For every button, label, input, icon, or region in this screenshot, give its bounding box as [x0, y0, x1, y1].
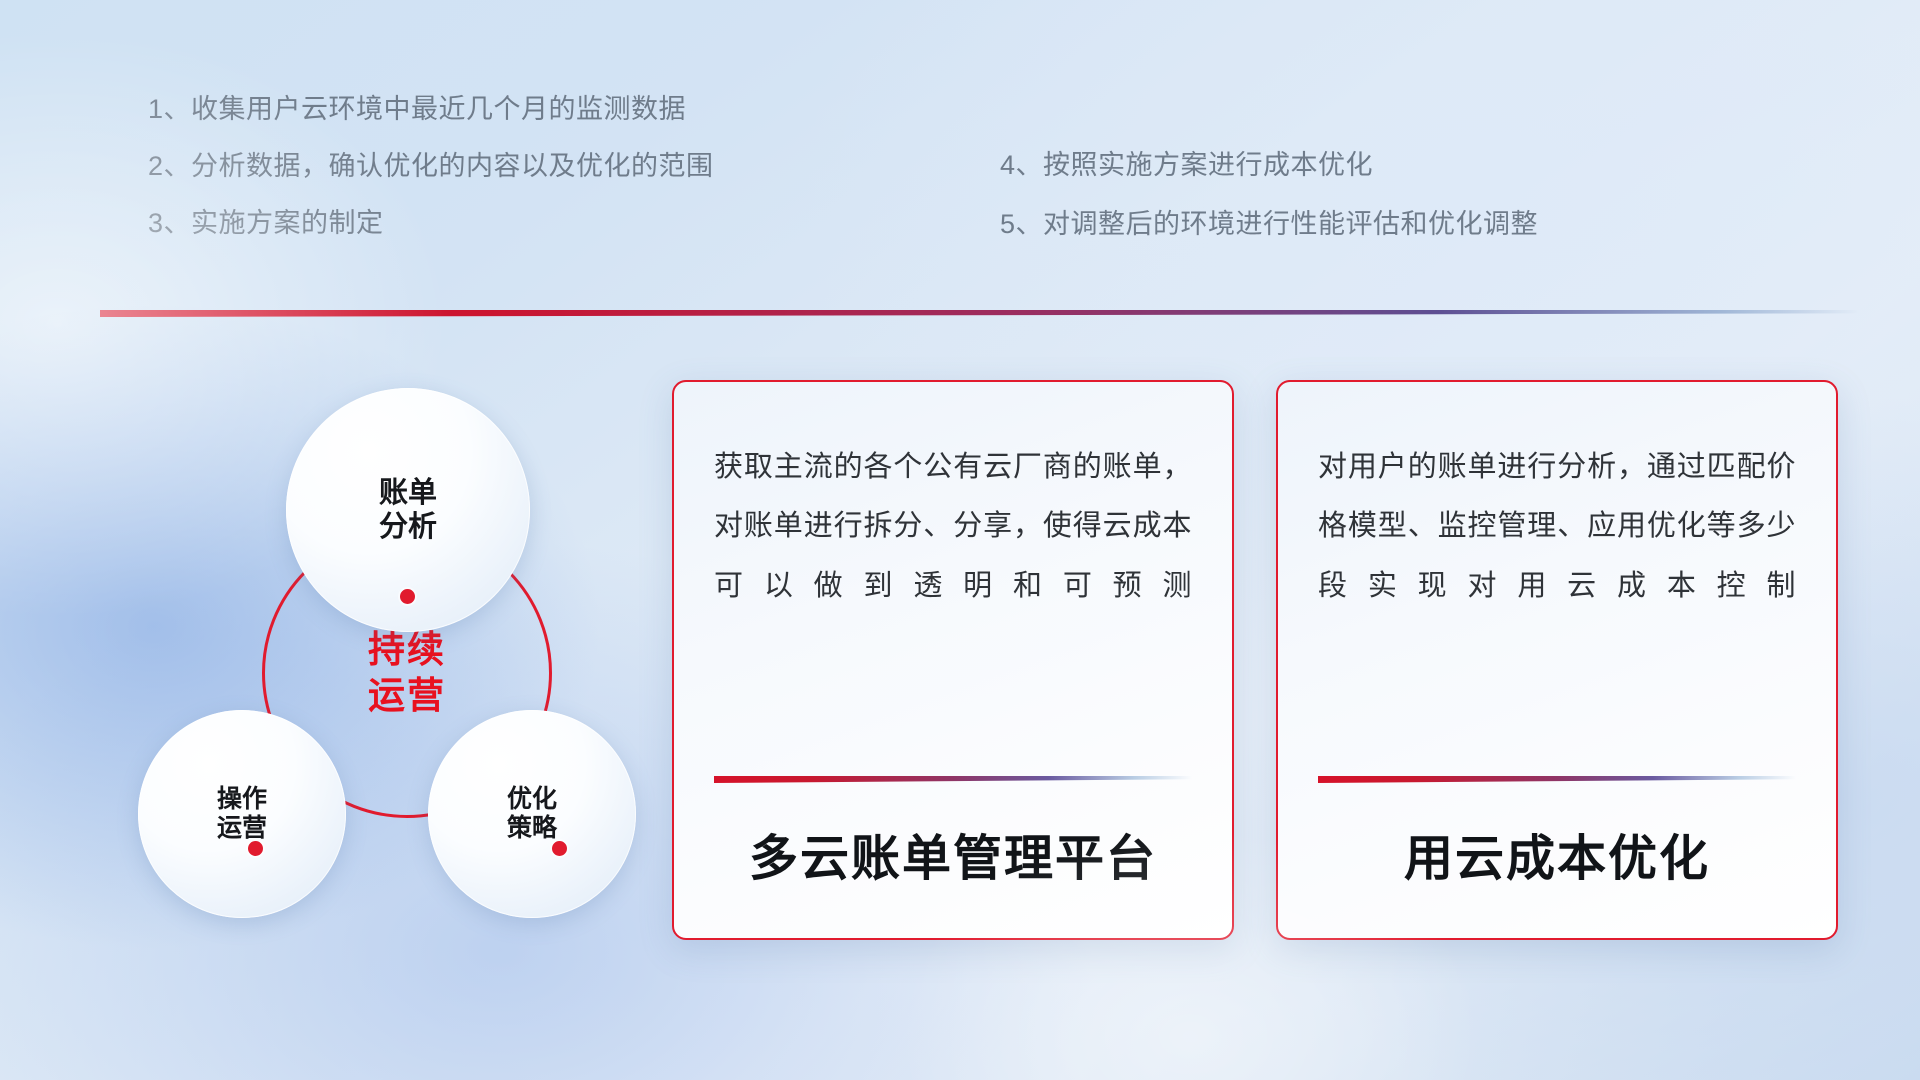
continuous-operation-diagram: 持续 运营 账单 分析 操作 运营 优化 策略 — [96, 348, 636, 948]
card-multicloud-billing[interactable]: 获取主流的各个公有云厂商的账单，对账单进行拆分、分享，使得云成本可以做到透明和可… — [672, 380, 1234, 940]
center-label-line2: 运营 — [368, 673, 446, 719]
list-item: 5、对调整后的环境进行性能评估和优化调整 — [1000, 211, 1538, 238]
bubble-label-line2: 分析 — [379, 510, 437, 544]
bubble-label-line1: 优化 — [507, 785, 557, 815]
bubble-label-line2: 策略 — [507, 814, 557, 844]
connector-dot-top — [400, 589, 415, 604]
connector-dot-bottom-left — [248, 841, 263, 856]
card-accent-rule — [1318, 776, 1796, 783]
card-accent-rule — [714, 776, 1192, 783]
bubble-label-line1: 账单 — [379, 476, 437, 510]
list-item: 4、按照实施方案进行成本优化 — [1000, 152, 1538, 179]
list-item: 2、分析数据，确认优化的内容以及优化的范围 — [148, 153, 714, 180]
bubble-optimization-strategy[interactable]: 优化 策略 — [428, 710, 636, 918]
steps-list-left: 1、收集用户云环境中最近几个月的监测数据 2、分析数据，确认优化的内容以及优化的… — [148, 96, 714, 267]
card-body-text: 获取主流的各个公有云厂商的账单，对账单进行拆分、分享，使得云成本可以做到透明和可… — [714, 438, 1192, 616]
connector-dot-bottom-right — [552, 841, 567, 856]
list-item: 1、收集用户云环境中最近几个月的监测数据 — [148, 96, 714, 123]
accent-divider — [100, 310, 1860, 317]
card-cloud-cost-optimization[interactable]: 对用户的账单进行分析，通过匹配价格模型、监控管理、应用优化等多少段实现对用云成本… — [1276, 380, 1838, 940]
bubble-label-line1: 操作 — [217, 785, 267, 815]
steps-list-right: 4、按照实施方案进行成本优化 5、对调整后的环境进行性能评估和优化调整 — [1000, 152, 1538, 270]
slide-canvas: 1、收集用户云环境中最近几个月的监测数据 2、分析数据，确认优化的内容以及优化的… — [0, 0, 1920, 1080]
bubble-operation[interactable]: 操作 运营 — [138, 710, 346, 918]
card-title: 用云成本优化 — [1318, 819, 1796, 890]
card-title: 多云账单管理平台 — [714, 819, 1192, 890]
list-item: 3、实施方案的制定 — [148, 210, 714, 237]
center-label-line1: 持续 — [368, 627, 446, 673]
card-body-text: 对用户的账单进行分析，通过匹配价格模型、监控管理、应用优化等多少段实现对用云成本… — [1318, 438, 1796, 616]
bubble-label-line2: 运营 — [217, 814, 267, 844]
